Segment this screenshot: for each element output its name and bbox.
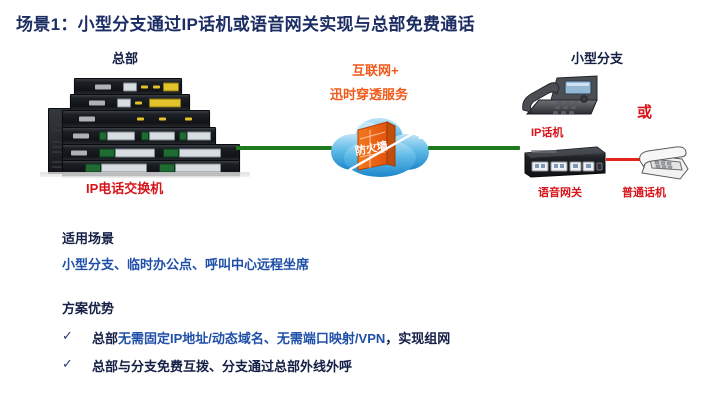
check-icon: ✓	[62, 356, 73, 372]
advantages-heading: 方案优势	[62, 298, 114, 317]
ip-pbx-label: IP电话交换机	[86, 178, 163, 197]
pbx-stack-image	[48, 78, 238, 174]
slide-canvas: 场景1：小型分支通过IP话机或语音网关实现与总部免费通话 总部	[0, 0, 720, 405]
ip-phone-icon	[517, 70, 601, 122]
scene-heading: 适用场景	[62, 228, 114, 247]
pbx-unit-5	[62, 144, 240, 161]
pbx-unit-1	[74, 78, 182, 95]
advantage-item-2: ✓ 总部与分支免费互拨、分支通过总部外线外呼	[62, 356, 352, 375]
pbx-unit-3	[62, 110, 210, 128]
cloud-label-line1: 互联网+	[352, 60, 399, 79]
analog-phone-icon	[636, 145, 692, 181]
pbx-unit-4	[62, 127, 216, 145]
or-label: 或	[637, 101, 652, 122]
page-title: 场景1：小型分支通过IP话机或语音网关实现与总部免费通话	[16, 10, 475, 35]
voice-gateway-icon	[521, 143, 607, 179]
link-cloud-to-branch	[428, 146, 520, 150]
internet-cloud-icon: 防火墙	[327, 108, 433, 182]
advantage-1-part1: 总部	[92, 331, 118, 346]
advantage-2-part1: 总部与分支免费互拨、分支通过总部外线外呼	[92, 359, 352, 374]
pbx-unit-2	[70, 94, 190, 111]
voice-gateway-label: 语音网关	[538, 184, 582, 200]
ip-phone-label: IP话机	[531, 124, 563, 140]
advantage-1-part3: ，实现组网	[385, 331, 450, 346]
advantage-item-1: ✓ 总部无需固定IP地址/动态域名、无需端口映射/VPN，实现组网	[62, 328, 450, 347]
check-icon: ✓	[62, 328, 73, 344]
link-hq-to-cloud	[236, 146, 332, 150]
desk-surface	[40, 172, 250, 177]
advantage-1-part2: 无需固定IP地址/动态域名、无需端口映射/VPN	[118, 331, 385, 346]
scene-body: 小型分支、临时办公点、呼叫中心远程坐席	[62, 254, 309, 273]
cloud-label-line2: 迅时穿透服务	[330, 84, 408, 103]
analog-phone-label: 普通话机	[622, 184, 666, 200]
branch-label: 小型分支	[571, 48, 623, 67]
headquarters-label: 总部	[112, 48, 138, 67]
